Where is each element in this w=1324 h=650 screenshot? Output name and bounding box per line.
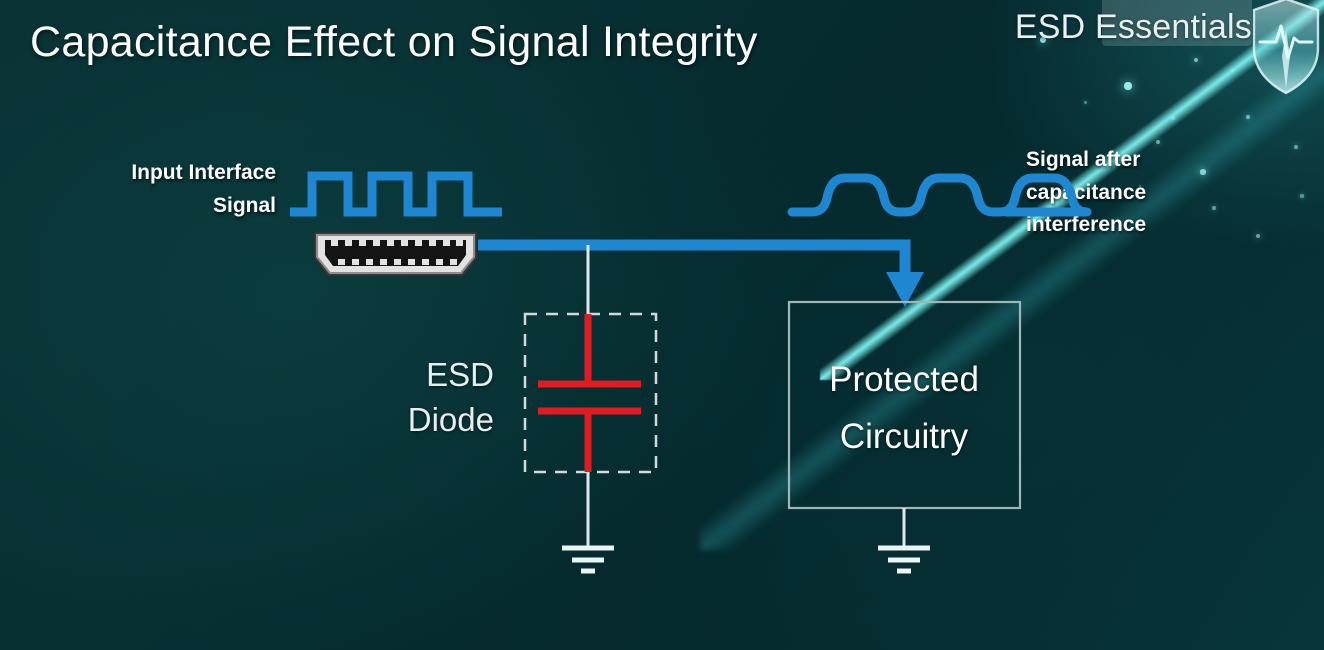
output-waveform-icon xyxy=(792,178,1087,212)
hdmi-connector-icon xyxy=(314,232,477,276)
connector-bottom-pins xyxy=(338,259,457,265)
esd-diode-label-line-2: Diode xyxy=(404,398,494,443)
protected-circuitry-label: Protected Circuitry xyxy=(789,352,1019,465)
circuit-diagram xyxy=(0,0,1324,650)
signal-wire xyxy=(478,245,924,307)
input-waveform-icon xyxy=(290,176,502,212)
capacitor-symbol-icon xyxy=(538,314,641,472)
circuit-ground-icon xyxy=(878,548,930,571)
esd-diode-label-line-1: ESD xyxy=(404,353,494,398)
esd-diode-label: ESD Diode xyxy=(404,353,494,442)
protected-circuitry-label-line-2: Circuitry xyxy=(789,409,1019,466)
esd-ground-icon xyxy=(562,548,614,571)
protected-circuitry-label-line-1: Protected xyxy=(789,352,1019,409)
slide-canvas: ESD Essentials Capacitance Effect on Sig… xyxy=(0,0,1324,650)
